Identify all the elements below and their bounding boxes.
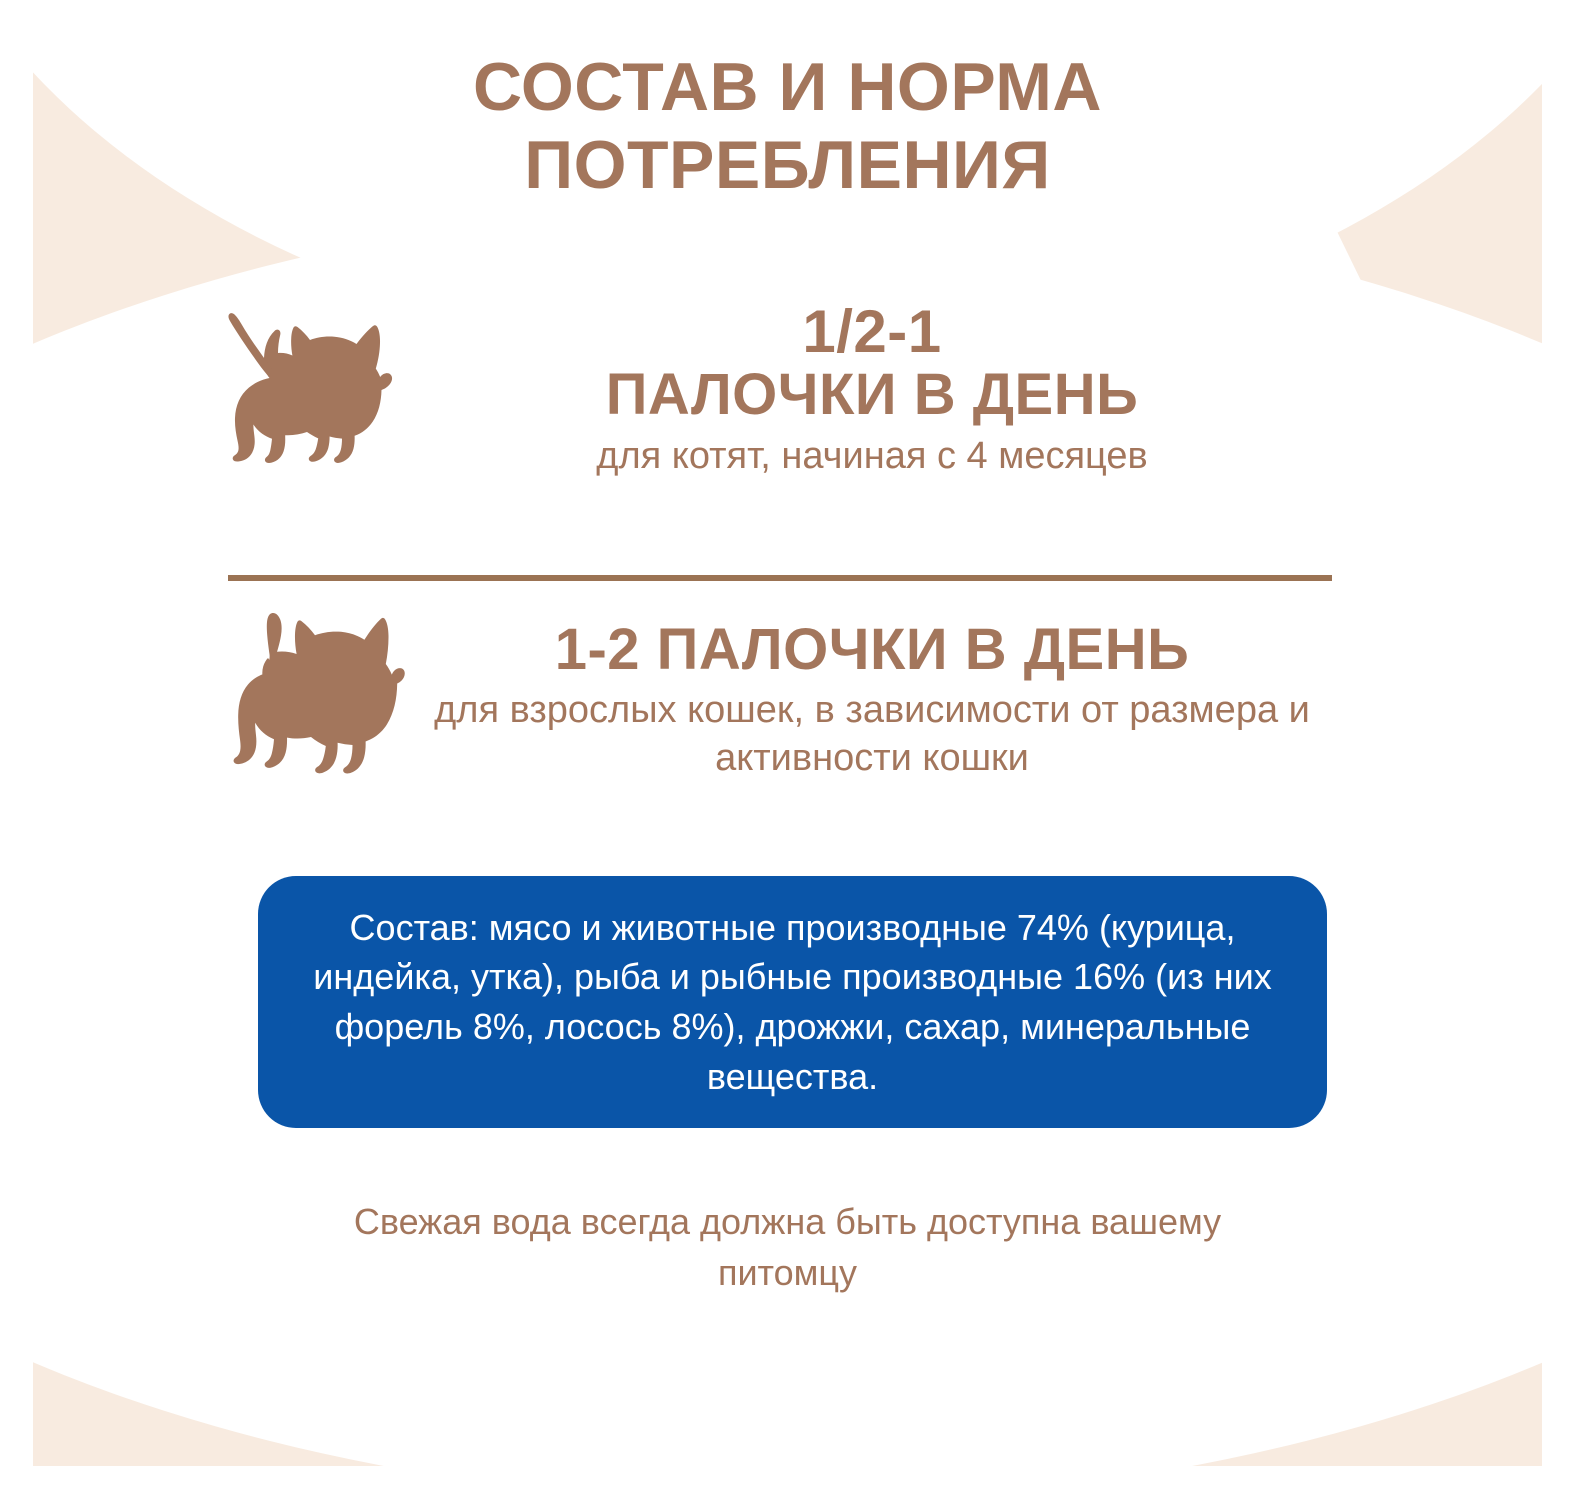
kitten-dose-subtext: для котят, начиная с 4 месяцев [402,433,1342,481]
ingredients-panel: Состав: мясо и животные производные 74% … [258,876,1327,1128]
kitten-silhouette-icon [222,309,412,471]
feeding-row-adult: 1-2 ПАЛОЧКИ В ДЕНЬ для взрослых кошек, в… [222,612,1342,788]
water-availability-note: Свежая вода всегда должна быть доступна … [0,1196,1575,1298]
poster-content: СОСТАВ И НОРМА ПОТРЕБЛЕНИЯ 1/2-1 ПАЛОЧКИ… [0,0,1575,1499]
page-title: СОСТАВ И НОРМА ПОТРЕБЛЕНИЯ [0,48,1575,204]
adult-dose-headline: 1-2 ПАЛОЧКИ В ДЕНЬ [402,618,1342,682]
kitten-feeding-text: 1/2-1 ПАЛОЧКИ В ДЕНЬ для котят, начиная … [402,300,1342,480]
adult-cat-silhouette-icon [222,612,412,788]
adult-dose-subtext: для взрослых кошек, в зависимости от раз… [402,687,1342,782]
adult-feeding-text: 1-2 ПАЛОЧКИ В ДЕНЬ для взрослых кошек, в… [402,618,1342,783]
section-divider [228,575,1332,581]
ingredients-text: Состав: мясо и животные производные 74% … [306,903,1279,1102]
feeding-row-kitten: 1/2-1 ПАЛОЧКИ В ДЕНЬ для котят, начиная … [222,300,1342,480]
kitten-dose-headline: ПАЛОЧКИ В ДЕНЬ [402,363,1342,427]
product-info-poster: СОСТАВ И НОРМА ПОТРЕБЛЕНИЯ 1/2-1 ПАЛОЧКИ… [0,0,1575,1499]
kitten-dose-amount: 1/2-1 [402,300,1342,363]
